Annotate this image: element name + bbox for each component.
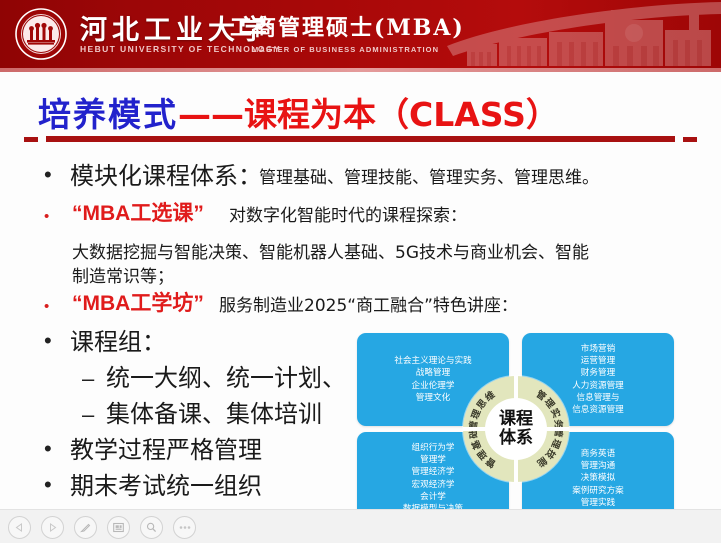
divider-dash-right [683, 137, 697, 142]
grid-icon [113, 522, 124, 533]
course-item: 企业伦理学 [412, 380, 455, 392]
course-item: 组织行为学 [412, 442, 455, 454]
ellipsis-icon [179, 525, 191, 530]
slide-title: 培养模式——课程为本（CLASS） [38, 88, 559, 136]
bullet-glyph: • [44, 164, 52, 186]
course-item: 管理经济学 [412, 466, 455, 478]
title-divider [24, 136, 697, 143]
diagram-center-hub: 管理思维 管理实务 管理基础 管理技能 课程体系 [463, 376, 569, 482]
pen-icon [80, 522, 91, 533]
bullet-glyph: • [44, 474, 52, 496]
elective-courses-line-b: 制造常识等； [72, 262, 174, 287]
module-system-head: 模块化课程体系： [70, 156, 262, 191]
unified-syllabus-label: 统一大纲、统一计划、 [106, 358, 346, 393]
mba-workshop-head: “MBA工学坊” [72, 287, 204, 317]
mba-workshop-tail: 服务制造业2025“商工融合”特色讲座： [219, 291, 518, 316]
program-name-cn: 工商管理硕士(MBA) [230, 10, 465, 42]
course-item: 案例研究方案 [572, 485, 624, 497]
university-name-en: HEBUT UNIVERSITY OF TECHNOLOGY [80, 44, 281, 54]
slide-grid-button[interactable] [107, 516, 130, 539]
campus-building-watermark [427, 0, 721, 68]
bullet-glyph: • [44, 438, 52, 460]
course-item: 管理学 [420, 454, 446, 466]
hebut-university-emblem [13, 6, 69, 62]
dash-glyph: – [82, 402, 94, 428]
zoom-search-button[interactable] [140, 516, 163, 539]
pen-annotation-button[interactable] [74, 516, 97, 539]
program-name-en: MASTER OF BUSINESS ADMINISTRATION [252, 45, 439, 54]
dash-glyph: – [82, 366, 94, 392]
course-item: 会计学 [420, 491, 446, 503]
final-exam-label: 期末考试统一组织 [70, 466, 262, 501]
course-item: 财务管理 [581, 367, 615, 379]
magnifier-icon [146, 522, 157, 533]
player-toolbar [0, 509, 721, 543]
triangle-left-icon [15, 523, 24, 532]
course-item: 战略管理 [416, 367, 450, 379]
diagram-center-label: 课程体系 [485, 398, 547, 460]
divider-dash-left [24, 137, 38, 142]
header-accent-line [0, 68, 721, 72]
course-item: 运营管理 [581, 355, 615, 367]
center-line-1: 课程 [499, 409, 533, 429]
course-item: 人力资源管理 [572, 380, 624, 392]
mba-elective-tail: 对数字化智能时代的课程探索： [229, 201, 467, 226]
slide-title-main: 培养模式 [38, 95, 178, 134]
course-item: 管理实践 [581, 497, 615, 509]
course-group-label: 课程组： [70, 322, 166, 357]
module-system-tail: 管理基础、管理技能、管理实务、管理思维。 [259, 163, 599, 188]
triangle-right-icon [48, 523, 57, 532]
collective-prep-label: 集体备课、集体培训 [106, 394, 322, 429]
course-item: 管理沟通 [581, 460, 615, 472]
presentation-slide: 河北工业大学 HEBUT UNIVERSITY OF TECHNOLOGY 工商… [0, 0, 721, 543]
teaching-management-label: 教学过程严格管理 [70, 430, 262, 465]
course-system-diagram: 社会主义理论与实践 战略管理 企业伦理学 管理文化 市场营销 运营管理 财务管理… [357, 333, 695, 525]
course-item: 信息管理与 [577, 392, 620, 404]
course-item: 社会主义理论与实践 [394, 355, 471, 367]
slide-title-sub: ——课程为本（CLASS） [178, 95, 559, 134]
previous-slide-button[interactable] [8, 516, 31, 539]
course-item: 决策模拟 [581, 472, 615, 484]
course-item: 宏观经济学 [412, 479, 455, 491]
course-item: 管理文化 [416, 392, 450, 404]
slide-header-banner: 河北工业大学 HEBUT UNIVERSITY OF TECHNOLOGY 工商… [0, 0, 721, 68]
elective-courses-line-a: 大数据挖掘与智能决策、智能机器人基础、5G技术与商业机会、智能 [72, 238, 589, 263]
course-item: 商务英语 [581, 448, 615, 460]
mba-elective-head: “MBA工选课” [72, 197, 204, 227]
bullet-glyph: • [44, 209, 49, 224]
bullet-glyph: • [44, 330, 52, 352]
center-line-2: 体系 [499, 428, 533, 448]
course-item: 市场营销 [581, 343, 615, 355]
course-item: 信息资源管理 [572, 404, 624, 416]
bullet-glyph: • [44, 299, 49, 314]
next-slide-button[interactable] [41, 516, 64, 539]
more-options-button[interactable] [173, 516, 196, 539]
divider-line [46, 136, 675, 142]
